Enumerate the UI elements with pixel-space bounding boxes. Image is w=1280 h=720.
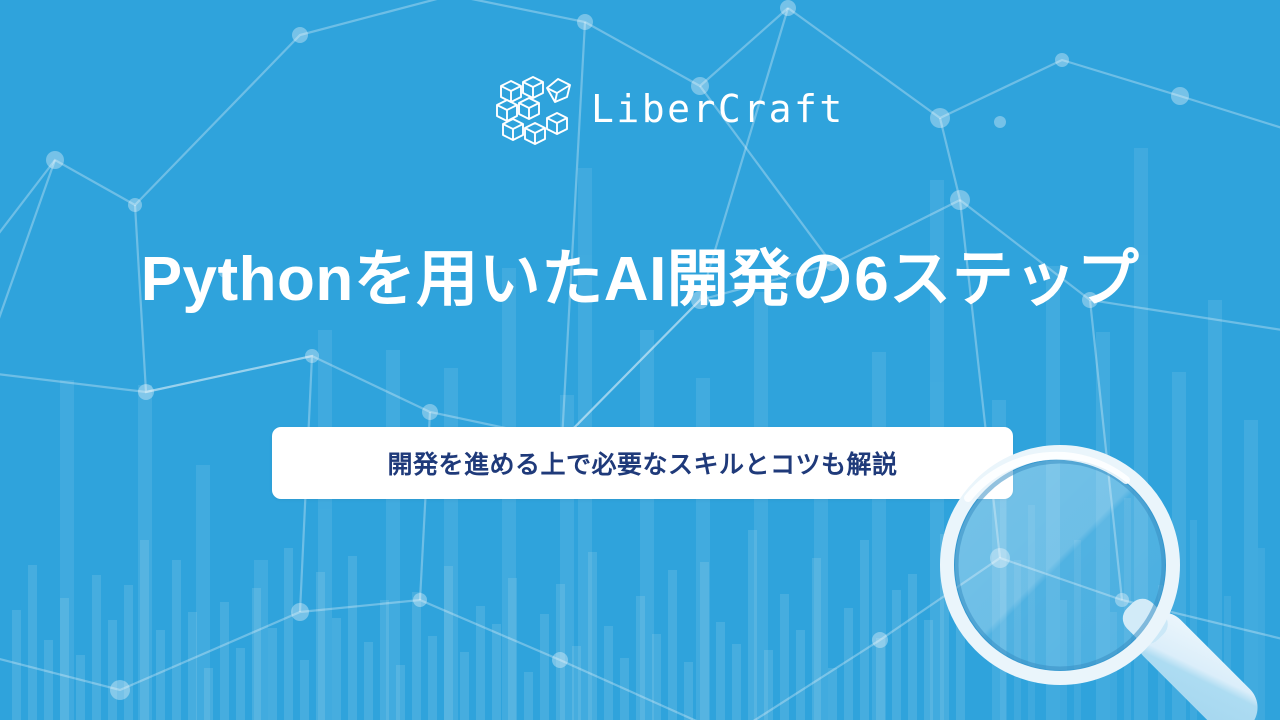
brand-logo: LiberCraft [495, 72, 845, 148]
brand-logo-text: LiberCraft [591, 90, 845, 130]
page-title: Pythonを用いたAI開発の6ステップ [0, 244, 1280, 315]
slide-canvas: LiberCraft Pythonを用いたAI開発の6ステップ 開発を進める上で… [0, 0, 1280, 720]
subtitle-text: 開発を進める上で必要なスキルとコツも解説 [387, 445, 897, 481]
subtitle-banner: 開発を進める上で必要なスキルとコツも解説 [272, 427, 1013, 499]
isometric-cubes-cluster-icon [495, 72, 577, 148]
